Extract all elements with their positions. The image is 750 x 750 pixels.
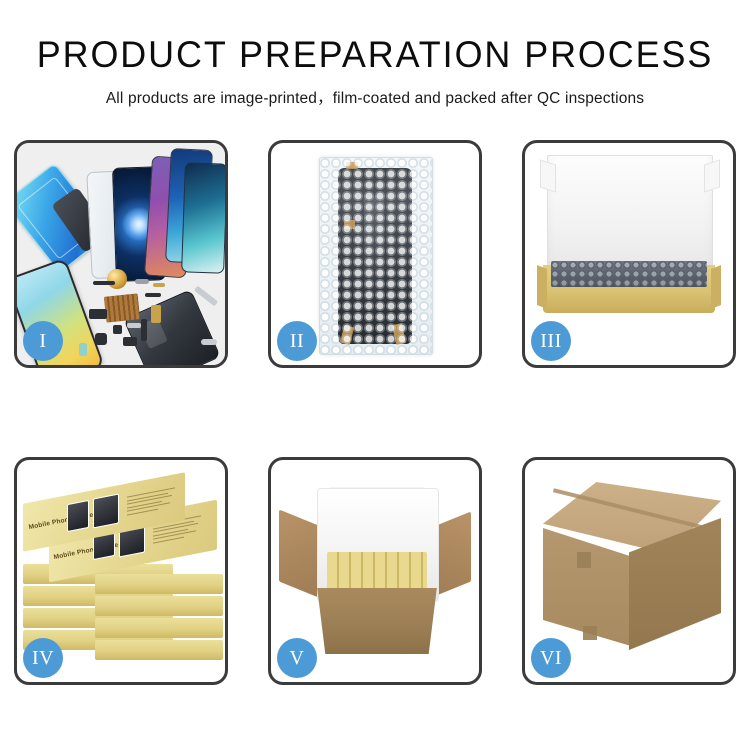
spare-part-icon [95,333,107,345]
spare-part-icon [127,323,141,328]
spare-part-icon [135,279,149,284]
panel-step-3[interactable]: III [522,140,736,368]
panel-step-1-badge: I [23,321,63,361]
carton-front-icon [309,588,445,654]
carton-tape-icon [583,626,597,640]
chip-board-icon [104,293,141,322]
gold-camera-part-icon [107,269,127,289]
spare-part-icon [89,309,107,319]
spare-part-icon [93,281,115,285]
stacked-box-icon [95,640,223,660]
bubble-wrap-bag-icon [319,157,433,355]
panel-step-4-badge: IV [23,638,63,678]
panel-step-3-badge: III [531,321,571,361]
white-box-lid-icon [547,155,713,275]
panel-step-4[interactable]: Mobile Phone Spare Parts Mobile Phone Sp… [14,457,228,685]
spare-part-icon [123,337,137,346]
spare-part-icon [113,325,122,334]
panel-step-1[interactable]: I [14,140,228,368]
spare-part-icon [201,339,217,345]
spare-part-icon [153,283,165,287]
tweezers-icon [194,286,218,307]
panel-step-2-badge: II [277,321,317,361]
lid-product-photo-icon [67,500,89,532]
panel-step-5-badge: V [277,638,317,678]
stacked-box-icon [95,618,223,638]
spare-part-icon [145,293,161,297]
page-subtitle: All products are image-printed，film-coat… [0,86,750,108]
teal-gradient-phone-icon [181,162,225,273]
spare-part-icon [151,305,161,323]
stacked-box-icon [95,574,223,594]
page-header: PRODUCT PREPARATION PROCESS All products… [0,0,750,108]
carton-tape-icon [577,552,591,568]
process-step-grid: I II III [14,140,736,685]
stacked-box-icon [95,596,223,616]
spare-part-icon [79,343,87,356]
panel-step-6[interactable]: VI [522,457,736,685]
spare-part-icon [141,319,147,341]
panel-step-5[interactable]: V [268,457,482,685]
bubble-texture-overlay [320,158,432,354]
panel-step-2[interactable]: II [268,140,482,368]
page-title: PRODUCT PREPARATION PROCESS [11,36,739,73]
panel-step-6-badge: VI [531,638,571,678]
lid-product-photo-icon [93,493,119,528]
bubble-wrapped-contents-icon [551,261,707,287]
